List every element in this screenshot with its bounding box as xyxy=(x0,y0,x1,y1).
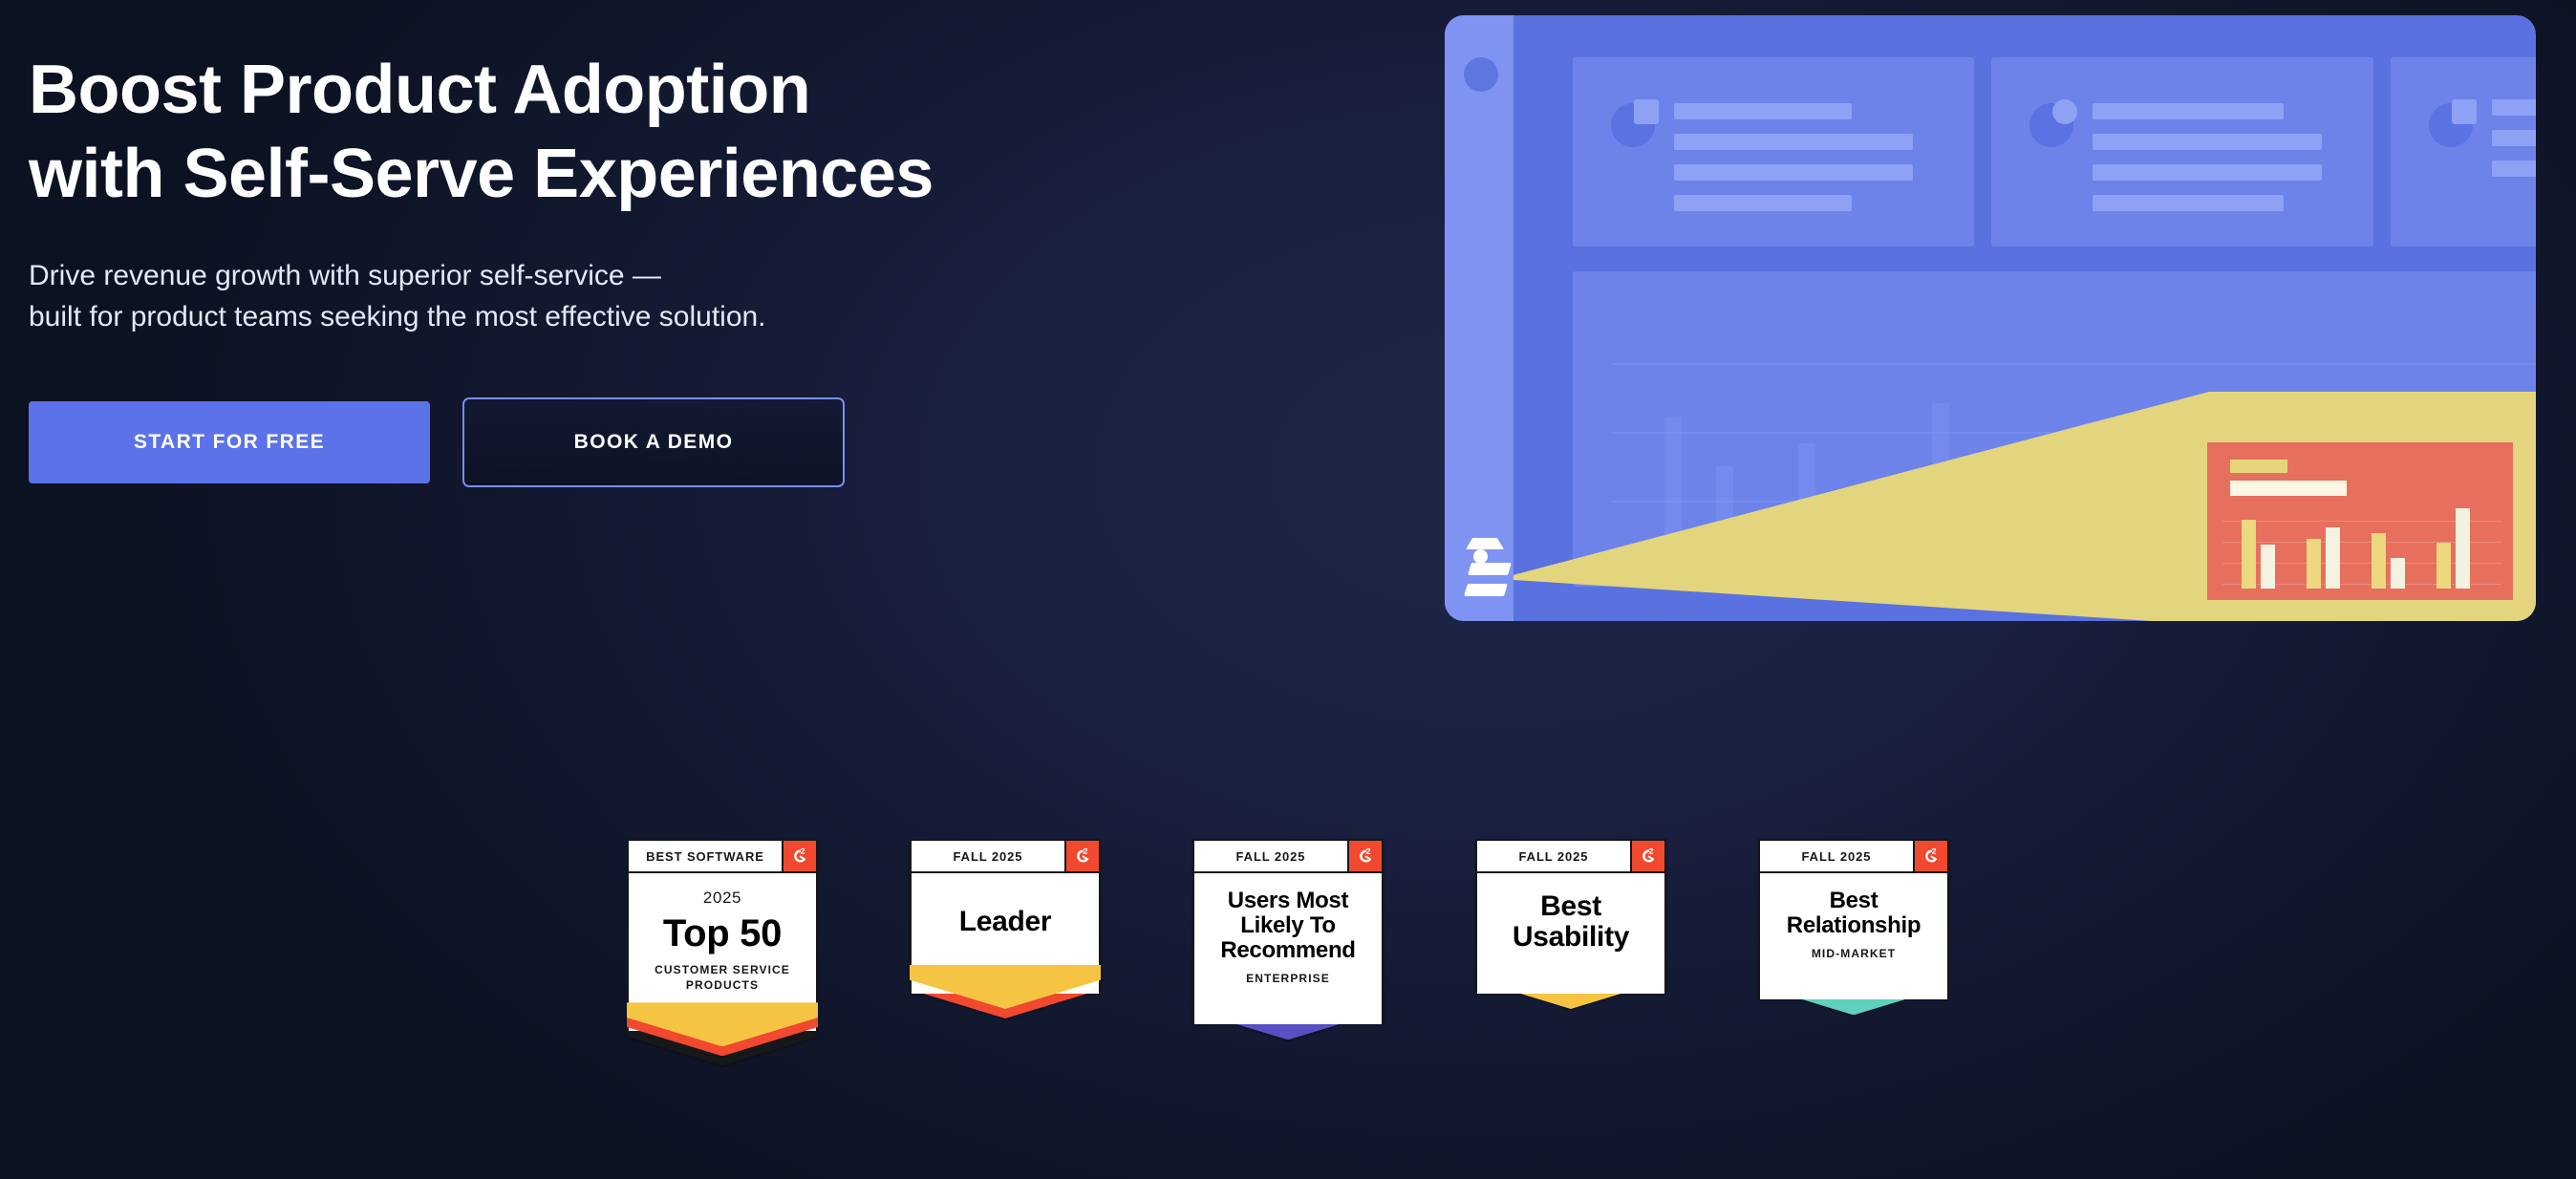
page-title: Boost Product Adoption with Self-Serve E… xyxy=(29,55,1395,208)
card-text-line xyxy=(1674,195,1852,211)
badge-title: Leader xyxy=(919,907,1091,937)
chart-bar xyxy=(2436,543,2451,589)
hero-copy-column: Boost Product Adoption with Self-Serve E… xyxy=(29,55,1395,487)
dashboard-sidebar-rail xyxy=(1445,15,1513,621)
dashboard-card xyxy=(1573,57,1974,247)
chart-bar xyxy=(2307,539,2321,589)
badge-title: Best Relationship xyxy=(1768,889,1940,938)
highlighted-analytics-card xyxy=(2207,442,2513,600)
chart-bar xyxy=(2372,533,2386,589)
card-text-line xyxy=(1674,134,1913,150)
badge-subtitle-line: CUSTOMER SERVICE xyxy=(655,963,790,976)
beam-bar xyxy=(1468,563,1512,575)
badge-title: Top 50 xyxy=(636,913,808,954)
badge-title: Best Usability xyxy=(1485,891,1657,954)
card-text-line xyxy=(1674,103,1852,119)
avatar-circle-icon xyxy=(1464,57,1498,92)
card-text-line xyxy=(2492,161,2536,177)
start-for-free-button[interactable]: START FOR FREE xyxy=(29,401,430,483)
pie-chart-icon xyxy=(1611,103,1655,147)
spotlight-source-icon xyxy=(1460,536,1513,612)
headline-line-1: Boost Product Adoption xyxy=(29,55,1395,124)
subhead-line-2: built for product teams seeking the most… xyxy=(29,297,1395,338)
badge-body: Best Usability xyxy=(1475,873,1666,994)
badge-header-label: FALL 2025 xyxy=(1477,841,1630,871)
badge-header-label: FALL 2025 xyxy=(912,841,1064,871)
subhead-line-1: Drive revenue growth with superior self-… xyxy=(29,256,1395,297)
g2-badge[interactable]: FALL 2025 Best RelationshipMID-MARKET xyxy=(1758,839,1949,1028)
badge-chevron-stack xyxy=(910,965,1101,1022)
badge-title: Users Most Likely To Recommend xyxy=(1202,889,1374,963)
dashboard-card xyxy=(2391,57,2536,247)
card-text-line xyxy=(1674,164,1913,181)
badge-header: FALL 2025 xyxy=(1192,839,1384,873)
chart-bar xyxy=(2261,545,2275,589)
beam-dot xyxy=(1473,549,1488,564)
hero-illustration xyxy=(1445,15,2536,621)
card-label-title xyxy=(2230,481,2347,496)
badge-subtitle-line: PRODUCTS xyxy=(686,978,759,992)
g2-badge[interactable]: FALL 2025 Best Usability xyxy=(1475,839,1666,1022)
badge-chevron xyxy=(910,965,1101,1009)
badge-subtitle-line: ENTERPRISE xyxy=(1246,972,1330,985)
card-label-accent xyxy=(2230,460,2287,473)
badge-header: FALL 2025 xyxy=(1758,839,1949,873)
badge-subtitle-line: MID-MARKET xyxy=(1812,947,1896,960)
book-a-demo-button[interactable]: BOOK A DEMO xyxy=(462,397,845,487)
badge-header: BEST SOFTWARE xyxy=(627,839,818,873)
chart-bar xyxy=(2242,520,2256,589)
badge-chevron-stack xyxy=(627,1002,818,1060)
badge-year: 2025 xyxy=(636,889,808,908)
card-text-line xyxy=(2093,103,2284,119)
card-text-line xyxy=(2093,195,2284,211)
badge-header-label: BEST SOFTWARE xyxy=(629,841,782,871)
badge-subtitle: ENTERPRISE xyxy=(1202,972,1374,987)
pie-chart-icon xyxy=(2429,103,2473,147)
badge-header-label: FALL 2025 xyxy=(1194,841,1347,871)
g2-badge-row: BEST SOFTWARE 2025Top 50CUSTOMER SERVICE… xyxy=(0,839,2576,1060)
beam-bar xyxy=(1466,538,1504,549)
card-text-line xyxy=(2093,164,2322,181)
badge-header-label: FALL 2025 xyxy=(1760,841,1913,871)
pie-chart-icon xyxy=(2029,103,2073,147)
g2-logo-icon xyxy=(1064,841,1099,871)
g2-logo-icon xyxy=(1347,841,1382,871)
badge-header: FALL 2025 xyxy=(1475,839,1666,873)
g2-logo-icon xyxy=(1913,841,1947,871)
dashboard-card xyxy=(1991,57,2373,247)
g2-logo-icon xyxy=(1630,841,1664,871)
g2-logo-icon xyxy=(782,841,816,871)
cta-button-row: START FOR FREE BOOK A DEMO xyxy=(29,397,1395,487)
panel-gridline xyxy=(1611,363,2536,365)
badge-subtitle: CUSTOMER SERVICEPRODUCTS xyxy=(636,963,808,993)
chart-bar xyxy=(2391,558,2405,589)
headline-line-2: with Self-Serve Experiences xyxy=(29,139,1395,208)
hero-section: Boost Product Adoption with Self-Serve E… xyxy=(0,0,2576,1179)
hero-subheadline: Drive revenue growth with superior self-… xyxy=(29,256,1395,338)
g2-badge[interactable]: FALL 2025 Leader xyxy=(910,839,1101,1022)
badge-header: FALL 2025 xyxy=(910,839,1101,873)
card-text-line xyxy=(2492,99,2536,116)
card-text-line xyxy=(2492,130,2536,146)
badge-body: Best RelationshipMID-MARKET xyxy=(1758,873,1949,999)
beam-bar xyxy=(1464,584,1508,596)
badge-subtitle: MID-MARKET xyxy=(1768,947,1940,962)
g2-badge[interactable]: FALL 2025 Users Most Likely To Recommend… xyxy=(1192,839,1384,1053)
chart-bar xyxy=(2326,527,2340,589)
card-text-line xyxy=(2093,134,2322,150)
badge-body: Users Most Likely To RecommendENTERPRISE xyxy=(1192,873,1384,1024)
g2-badge[interactable]: BEST SOFTWARE 2025Top 50CUSTOMER SERVICE… xyxy=(627,839,818,1060)
chart-bar xyxy=(2456,508,2470,589)
